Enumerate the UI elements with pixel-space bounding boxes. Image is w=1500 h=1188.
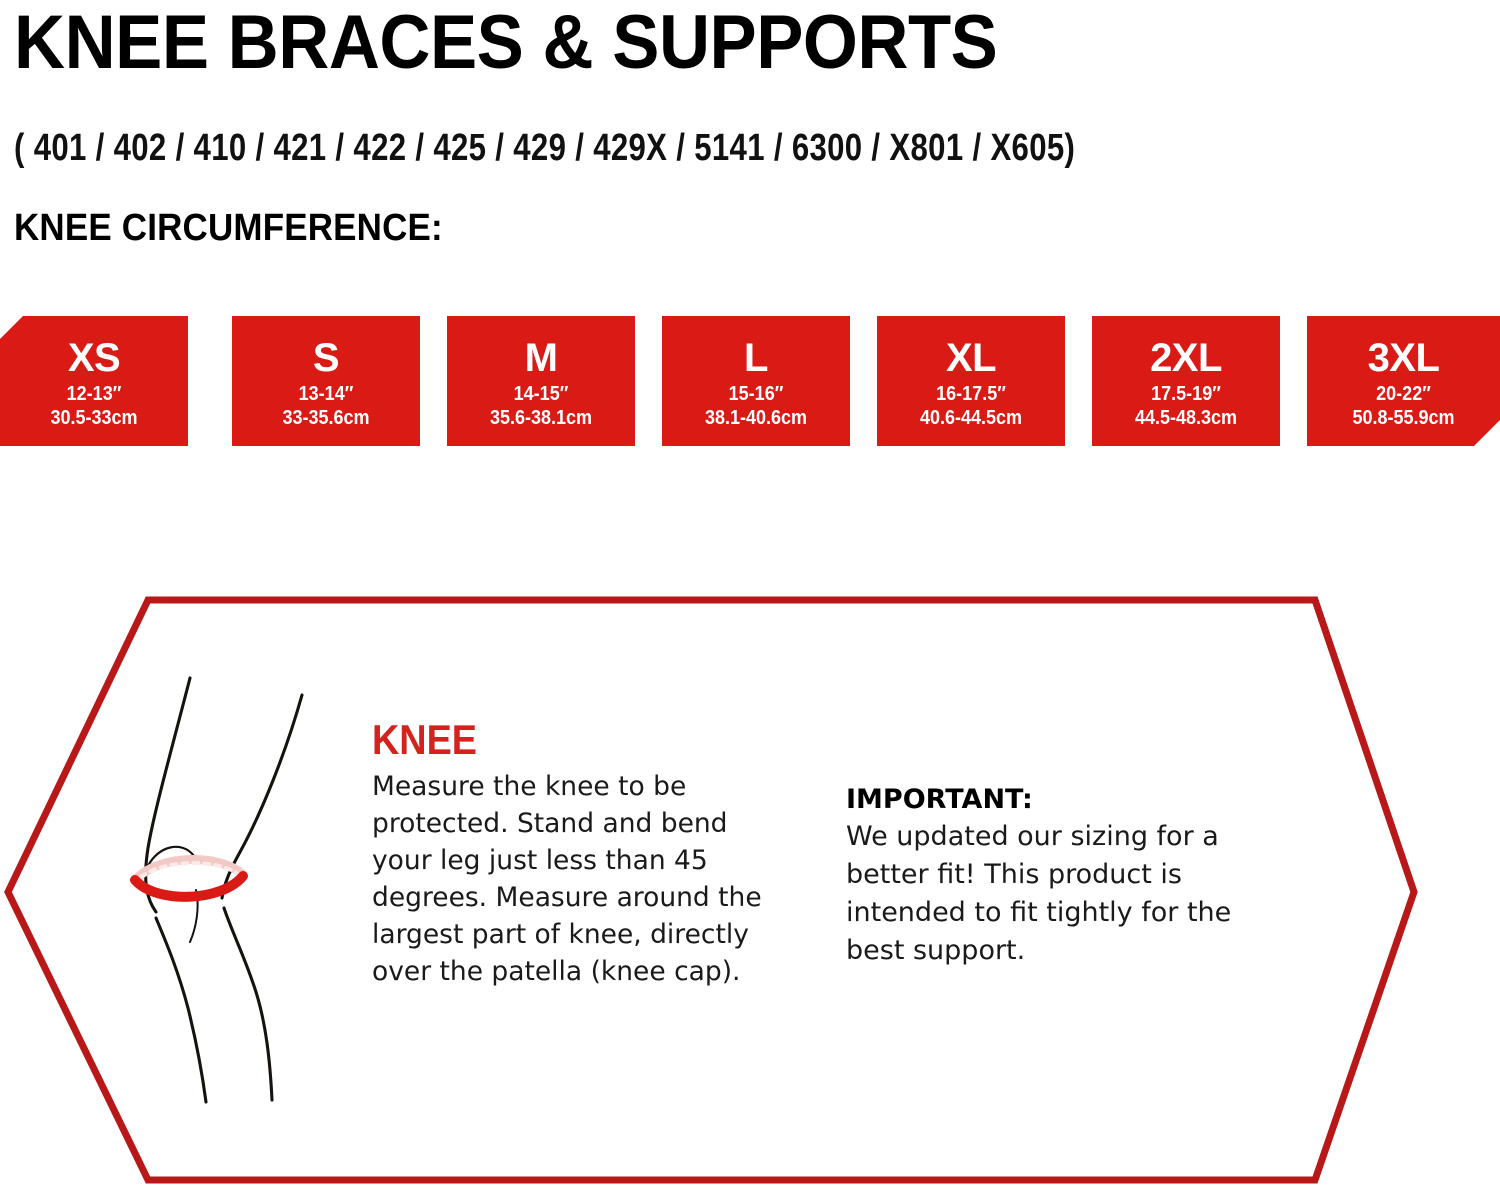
- size-box-m: M 14-15″ 35.6-38.1cm: [447, 316, 635, 446]
- size-centimeters: 50.8-55.9cm: [1317, 406, 1491, 430]
- size-box-3xl: 3XL 20-22″ 50.8-55.9cm: [1307, 316, 1500, 446]
- size-centimeters: 38.1-40.6cm: [671, 406, 840, 430]
- knee-heading: KNEE: [372, 718, 732, 762]
- size-inches: 16-17.5″: [886, 382, 1055, 406]
- size-centimeters: 40.6-44.5cm: [886, 406, 1055, 430]
- important-heading: IMPORTANT:: [846, 782, 1276, 818]
- size-inches: 17.5-19″: [1101, 382, 1270, 406]
- size-chart-row: XS 12-13″ 30.5-33cm S 13-14″ 33-35.6cm M…: [0, 316, 1500, 448]
- size-inches: 13-14″: [241, 382, 410, 406]
- measurement-type-label: KNEE CIRCUMFERENCE:: [14, 206, 443, 250]
- size-box-s: S 13-14″ 33-35.6cm: [232, 316, 420, 446]
- size-label: 3XL: [1307, 316, 1500, 380]
- size-label: XL: [877, 316, 1065, 380]
- size-label: 2XL: [1092, 316, 1280, 380]
- size-centimeters: 44.5-48.3cm: [1101, 406, 1270, 430]
- size-centimeters: 30.5-33cm: [9, 406, 178, 430]
- size-inches: 14-15″: [456, 382, 625, 406]
- size-inches: 12-13″: [9, 382, 178, 406]
- page-title: KNEE BRACES & SUPPORTS: [14, 2, 997, 84]
- size-inches: 15-16″: [671, 382, 840, 406]
- size-box-xs: XS 12-13″ 30.5-33cm: [0, 316, 188, 446]
- size-label: XS: [0, 316, 188, 380]
- product-codes: ( 401 / 402 / 410 / 421 / 422 / 425 / 42…: [14, 126, 1075, 170]
- size-centimeters: 33-35.6cm: [241, 406, 410, 430]
- size-box-l: L 15-16″ 38.1-40.6cm: [662, 316, 850, 446]
- important-notice-text: We updated our sizing for a better fit! …: [846, 818, 1276, 970]
- size-box-2xl: 2XL 17.5-19″ 44.5-48.3cm: [1092, 316, 1280, 446]
- size-inches: 20-22″: [1317, 382, 1491, 406]
- size-label: S: [232, 316, 420, 380]
- size-label: M: [447, 316, 635, 380]
- knee-measurement-diagram: [110, 640, 410, 1120]
- size-centimeters: 35.6-38.1cm: [456, 406, 625, 430]
- size-box-xl: XL 16-17.5″ 40.6-44.5cm: [877, 316, 1065, 446]
- knee-instructions-text: Measure the knee to be protected. Stand …: [372, 768, 767, 990]
- knee-instructions-column: KNEE Measure the knee to be protected. S…: [372, 718, 772, 990]
- important-notice-column: IMPORTANT: We updated our sizing for a b…: [846, 782, 1276, 970]
- size-label: L: [662, 316, 850, 380]
